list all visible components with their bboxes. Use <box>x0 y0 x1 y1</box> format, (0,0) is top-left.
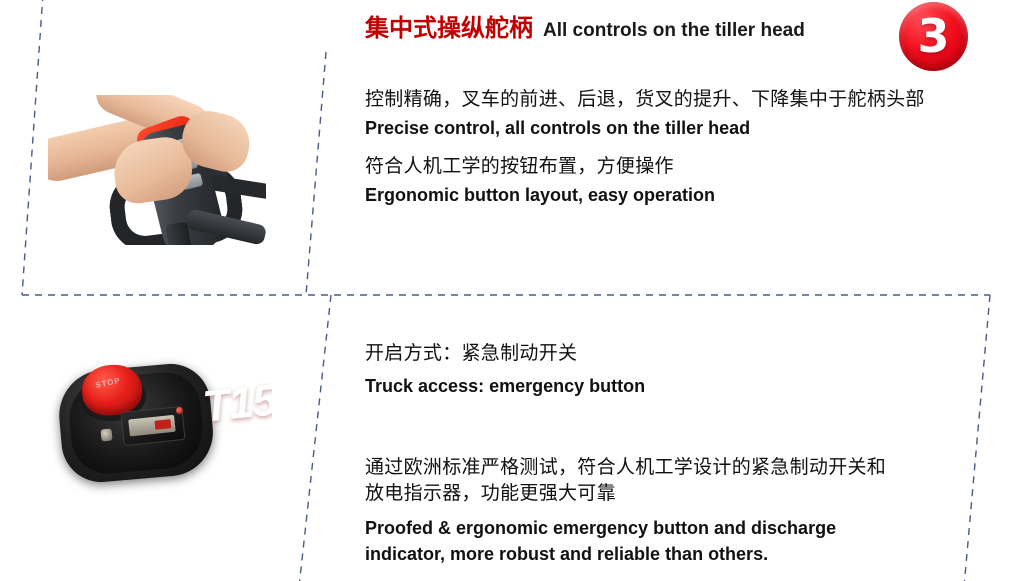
key-switch <box>100 428 112 441</box>
section1-title-en: All controls on the tiller head <box>543 20 805 42</box>
discharge-indicator-bar <box>154 419 171 430</box>
section1-title-cn: 集中式操纵舵柄 <box>365 8 533 43</box>
section1-line-1: 控制精确，叉车的前进、后退，货叉的提升、下降集中于舵柄头部 <box>365 84 925 111</box>
section1-line-2: Precise control, all controls on the til… <box>365 118 750 139</box>
panel2-left-edge <box>299 295 331 581</box>
panel1-right-edge <box>306 52 326 295</box>
section1-line-4: Ergonomic button layout, easy operation <box>365 185 715 206</box>
section-number: 3 <box>917 13 949 59</box>
section2-line-2: Truck access: emergency button <box>365 376 645 397</box>
section1-title: 集中式操纵舵柄 All controls on the tiller head <box>365 8 805 43</box>
panel2-right-edge <box>964 295 990 581</box>
section-number-badge: 3 <box>899 2 968 71</box>
section2-line-6: indicator, more robust and reliable than… <box>365 544 768 565</box>
emergency-button-photo: STOP T15 <box>30 345 272 505</box>
slide-page: 3 集中式操纵舵柄 All controls on the tiller hea… <box>0 0 1022 581</box>
discharge-indicator-lcd <box>128 415 176 437</box>
section2-line-1: 开启方式：紧急制动开关 <box>365 338 577 365</box>
section2-line-5: Proofed & ergonomic emergency button and… <box>365 518 836 539</box>
tiller-head-photo <box>48 95 266 245</box>
section1-line-3: 符合人机工学的按钮布置，方便操作 <box>365 151 674 178</box>
panel1-left-edge <box>22 0 43 295</box>
model-decal: T15 <box>201 375 272 432</box>
status-led <box>176 407 183 414</box>
section2-line-4: 放电指示器，功能更强大可靠 <box>365 478 616 505</box>
section2-line-3: 通过欧洲标准严格测试，符合人机工学设计的紧急制动开关和 <box>365 452 886 479</box>
emergency-stop-label: STOP <box>95 376 122 390</box>
